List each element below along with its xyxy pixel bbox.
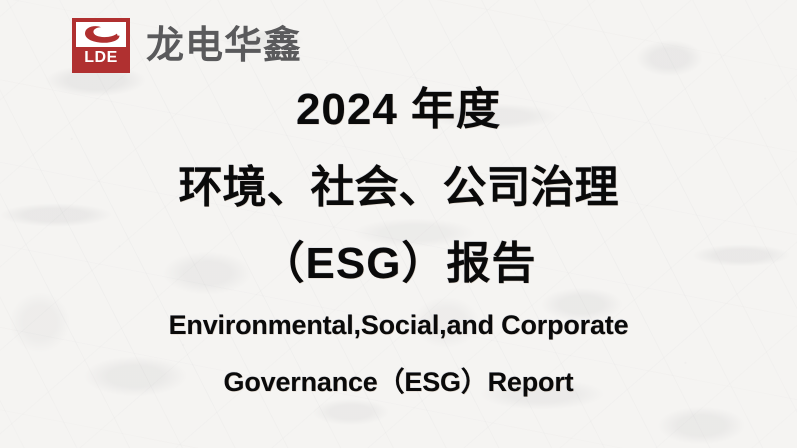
- report-title-esg-cn: （ESG）报告: [0, 242, 797, 286]
- report-title-year: 2024 年度: [0, 88, 797, 132]
- brand-lockup: LDE 龙电华鑫: [72, 18, 302, 73]
- logo-wordmark: LDE: [76, 47, 126, 69]
- cover-title-block: 2024 年度 环境、社会、公司治理 （ESG）报告 Environmental…: [0, 88, 797, 396]
- report-title-main-cn: 环境、社会、公司治理: [0, 166, 797, 210]
- report-subtitle-en-line-1: Environmental,Social,and Corporate: [0, 312, 797, 339]
- report-cover-page: LDE 龙电华鑫 2024 年度 环境、社会、公司治理 （ESG）报告 Envi…: [0, 0, 797, 448]
- lde-logo: LDE: [72, 18, 130, 73]
- logo-emblem-panel: [76, 22, 126, 47]
- company-name-chinese: 龙电华鑫: [146, 27, 302, 65]
- report-subtitle-en-line-2: Governance（ESG）Report: [0, 369, 797, 396]
- red-crescent-ellipse-emblem: [81, 25, 121, 44]
